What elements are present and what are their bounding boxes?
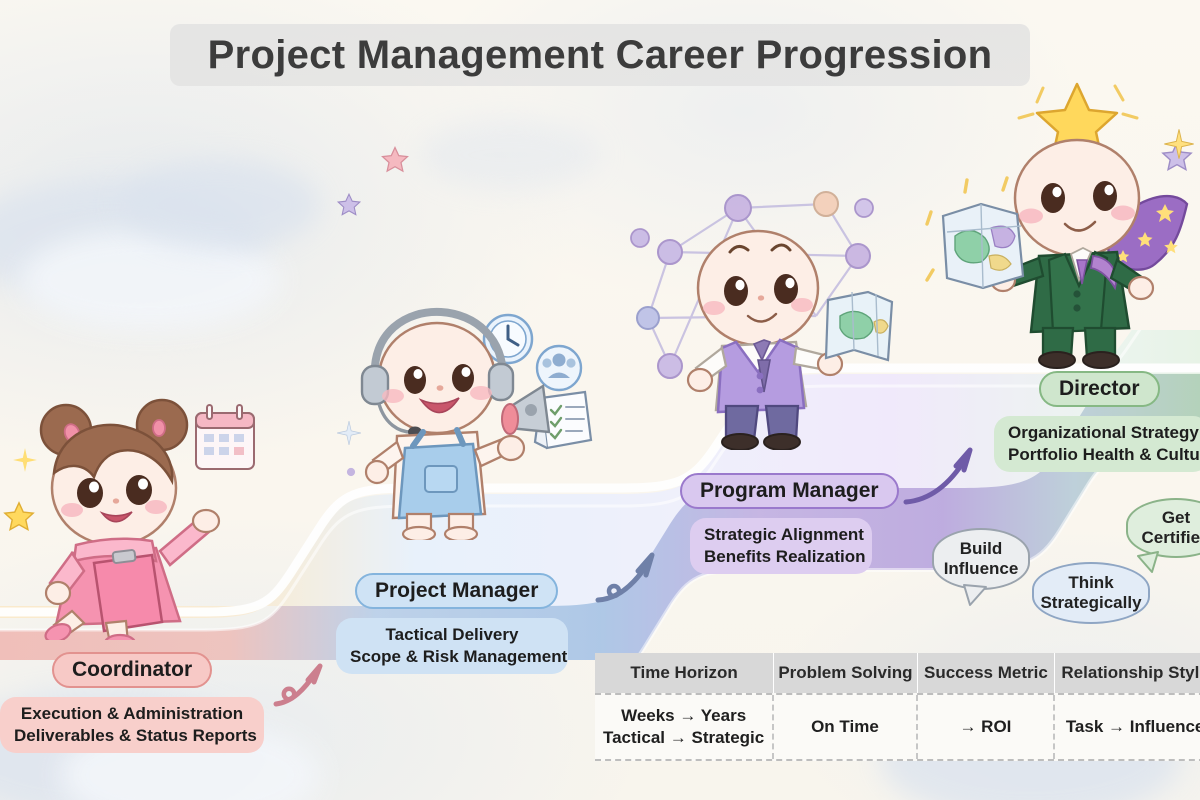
table-cell-success-metric: → ROI	[918, 695, 1056, 759]
bubble-line-1: Get	[1142, 508, 1200, 528]
star-decor-purple	[336, 192, 362, 218]
cloud-decor	[120, 160, 320, 250]
bubble-line-2: Certified	[1142, 528, 1200, 548]
role-label-text: Project Manager	[375, 579, 538, 603]
world-map-icon	[927, 178, 1023, 288]
role-label-text: Program Manager	[700, 479, 879, 503]
bubble-line-2: Strategically	[1040, 593, 1141, 613]
speech-bubble-tail	[1136, 550, 1162, 574]
table-header-cell: Problem Solving	[774, 653, 917, 693]
table-header-cell: Relationship Style	[1055, 653, 1200, 693]
speech-bubble-think-strategically[interactable]: Think Strategically	[1032, 562, 1150, 624]
role-label-text: Director	[1059, 377, 1140, 401]
character-project-manager	[345, 300, 605, 540]
character-coordinator	[10, 385, 260, 640]
table-cell-problem-solving: On Time	[774, 695, 917, 759]
role-label-program-manager[interactable]: Program Manager	[680, 473, 899, 509]
role-label-text: Coordinator	[72, 658, 192, 682]
table-header-row: Time Horizon Problem Solving Success Met…	[595, 653, 1200, 693]
table-cell-time-horizon: Weeks → Years Tactical → Strategic	[595, 695, 774, 759]
people-icon	[537, 346, 581, 390]
progress-arrow-3	[900, 440, 1000, 510]
speech-bubble-tail	[962, 583, 988, 607]
table-header-cell: Success Metric	[918, 653, 1056, 693]
comparison-table: Time Horizon Problem Solving Success Met…	[595, 653, 1200, 761]
role-description-coordinator: Execution & Administration Deliverables …	[0, 697, 264, 753]
role-label-project-manager[interactable]: Project Manager	[355, 573, 558, 609]
desc-line-2: Scope & Risk Management	[350, 646, 554, 668]
role-label-coordinator[interactable]: Coordinator	[52, 652, 212, 688]
role-description-project-manager: Tactical Delivery Scope & Risk Managemen…	[336, 618, 568, 674]
desc-line-1: Tactical Delivery	[350, 624, 554, 646]
bubble-line-1: Build	[944, 539, 1019, 559]
desc-line-1: Strategic Alignment	[704, 524, 858, 546]
bubble-line-2: Influence	[944, 559, 1019, 579]
progress-arrow-2	[590, 545, 690, 615]
desc-line-2: Portfolio Health & Culture	[1008, 444, 1195, 466]
desc-line-1: Organizational Strategy	[1008, 422, 1195, 444]
sparkle-icon	[1164, 129, 1193, 158]
character-program-manager	[630, 190, 900, 450]
cloud-decor	[420, 120, 600, 190]
desc-line-1: Execution & Administration	[14, 703, 250, 725]
speech-bubble-build-influence[interactable]: Build Influence	[932, 528, 1030, 590]
title-banner: Project Management Career Progression	[170, 24, 1030, 86]
page-title: Project Management Career Progression	[208, 33, 993, 78]
table-cell-relationship-style: Task → Influence	[1055, 695, 1200, 759]
star-decor-pink	[380, 145, 410, 175]
cell-line-1: Weeks → Years	[621, 705, 746, 727]
calendar-icon	[196, 405, 254, 469]
infographic-canvas: Project Management Career Progression	[0, 0, 1200, 800]
role-description-director: Organizational Strategy Portfolio Health…	[994, 416, 1200, 472]
character-director	[925, 80, 1200, 370]
map-icon	[826, 292, 892, 360]
desc-line-2: Deliverables & Status Reports	[14, 725, 250, 747]
table-header-cell: Time Horizon	[595, 653, 774, 693]
clipboard-icon	[94, 550, 162, 631]
desc-line-2: Benefits Realization	[704, 546, 858, 568]
bubble-line-1: Think	[1040, 573, 1141, 593]
role-label-director[interactable]: Director	[1039, 371, 1160, 407]
role-description-program-manager: Strategic Alignment Benefits Realization	[690, 518, 872, 574]
table-row: Weeks → Years Tactical → Strategic On Ti…	[595, 693, 1200, 761]
cell-line-2: Tactical → Strategic	[603, 727, 764, 749]
